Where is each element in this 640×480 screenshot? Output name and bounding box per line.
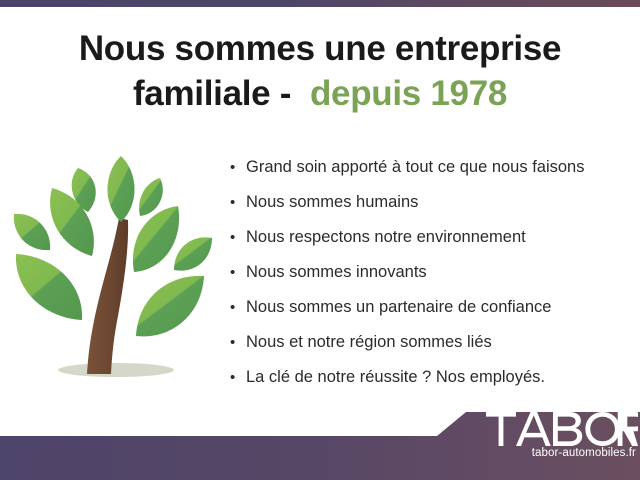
brand-logo: tabor-automobiles.fr [478,412,638,459]
list-item: • Nous respectons notre environnement [228,220,628,255]
tree-illustration [8,148,223,393]
list-item-label: Nous et notre région sommes liés [246,333,492,351]
bullet-icon: • [230,290,235,325]
bullet-icon: • [230,255,235,290]
leaf-far-left-small [14,214,50,250]
leaf-top-center [107,156,134,222]
bullet-icon: • [230,360,235,395]
bullet-icon: • [230,185,235,220]
list-item-label: Nous sommes humains [246,193,418,211]
leaf-upper-right-small [139,178,163,216]
list-item: • Nous et notre région sommes liés [228,325,628,360]
top-accent-bar [0,0,640,7]
feature-bullet-list: • Grand soin apporté à tout ce que nous … [228,150,628,395]
list-item: • Grand soin apporté à tout ce que nous … [228,150,628,185]
list-item-label: Nous sommes innovants [246,263,427,281]
list-item-label: Grand soin apporté à tout ce que nous fa… [246,158,584,176]
list-item: • Nous sommes innovants [228,255,628,290]
bullet-icon: • [230,220,235,255]
page-title-line-2-main: familiale - [133,74,310,113]
list-item-label: Nous respectons notre environnement [246,228,526,246]
bullet-icon: • [230,325,235,360]
leaf-lower-right-large [136,276,204,337]
list-item-label: La clé de notre réussite ? Nos employés. [246,368,545,386]
list-item: • Nous sommes humains [228,185,628,220]
slide-canvas: Nous sommes une entreprise familiale - d… [0,0,640,480]
bullet-icon: • [230,150,235,185]
leaf-lower-left-large [16,254,82,320]
leaf-far-right-small [174,237,212,270]
page-title-accent: depuis 1978 [310,74,507,113]
tree-shadow [58,363,174,377]
leaf-mid-right-large [133,206,179,272]
tabor-wordmark-icon [486,412,638,446]
list-item-label: Nous sommes un partenaire de confiance [246,298,551,316]
list-item: • Nous sommes un partenaire de confiance [228,290,628,325]
page-title-line-2: familiale - depuis 1978 [0,71,640,116]
brand-tagline: tabor-automobiles.fr [478,447,638,459]
list-item: • La clé de notre réussite ? Nos employé… [228,360,628,395]
page-title-line-1: Nous sommes une entreprise [0,26,640,71]
page-title: Nous sommes une entreprise familiale - d… [0,26,640,116]
